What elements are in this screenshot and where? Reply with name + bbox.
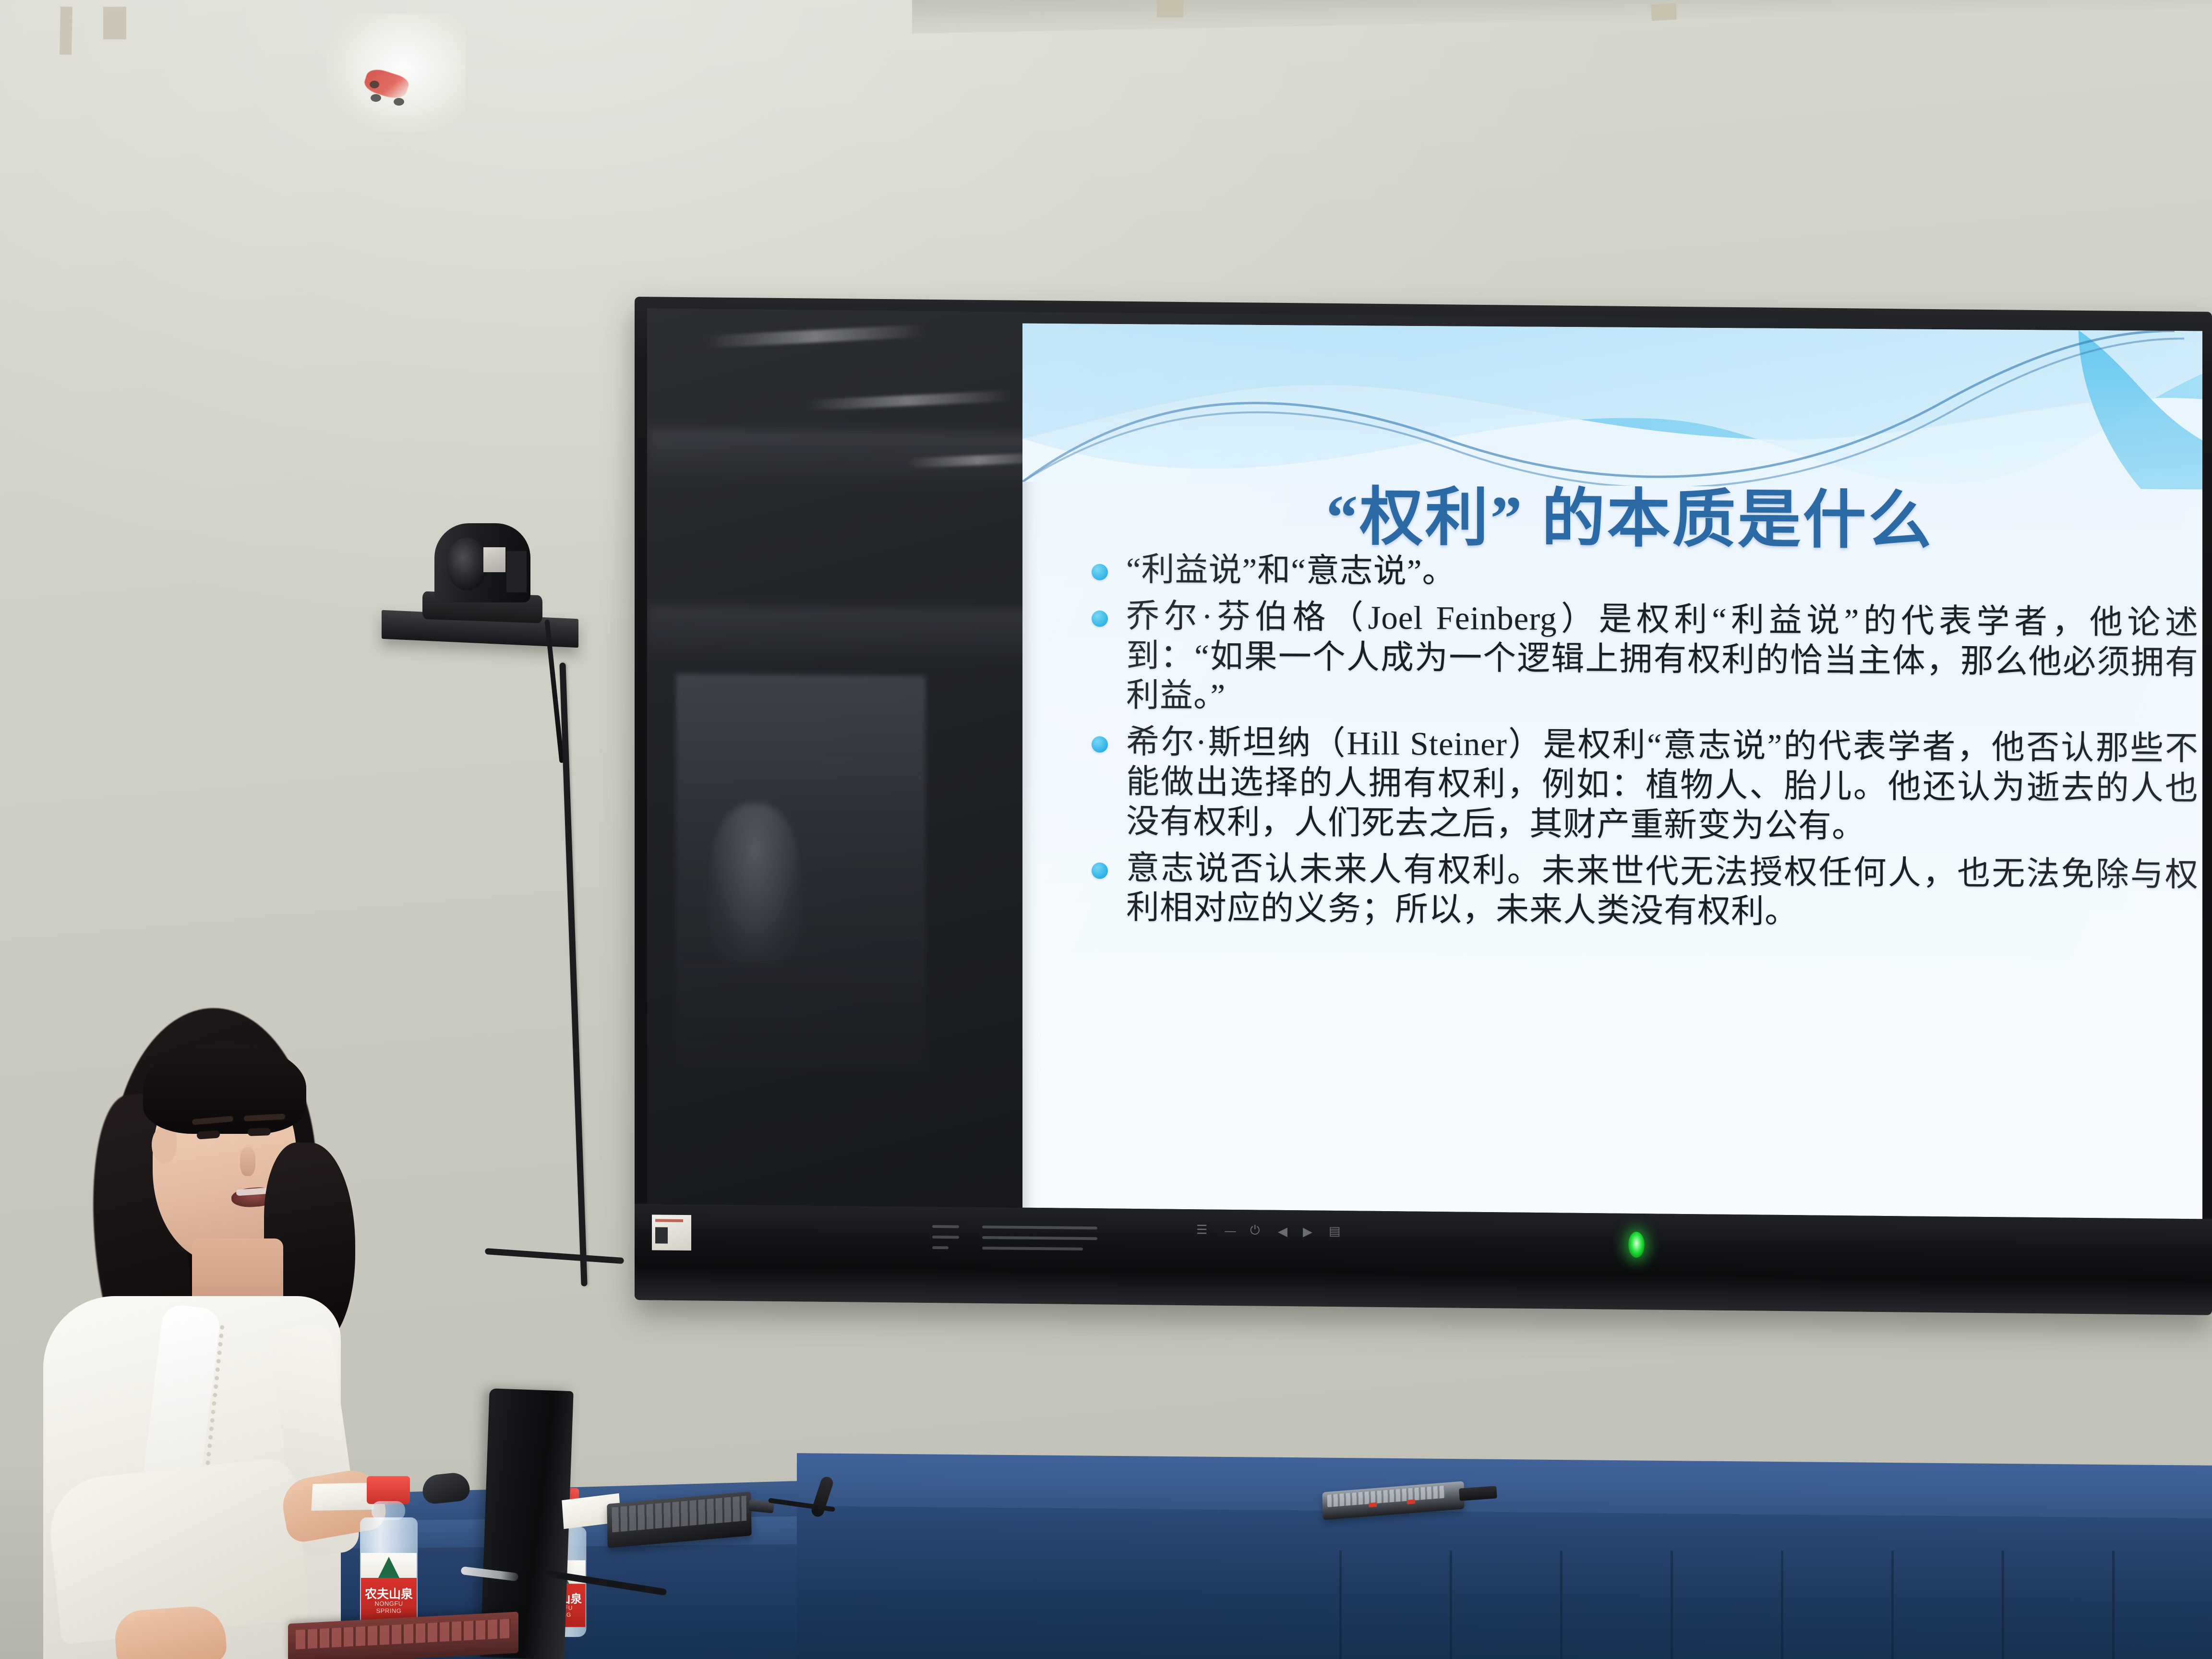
- display-vent-slots: [932, 1225, 1134, 1259]
- nongfu-logo-icon: [378, 1557, 399, 1578]
- skirt-pleat: [1781, 1551, 1783, 1659]
- skirt-pleat: [2002, 1551, 2004, 1659]
- usb-dongle: [1459, 1486, 1497, 1501]
- wall-plastic-scrap: [326, 13, 466, 133]
- slide-bullet-item: 希尔·斯坦纳（Hill Steiner）是权利“意志说”的代表学者，他否认那些不…: [1085, 722, 2199, 848]
- wall-tape-mark: [60, 7, 72, 55]
- eye: [248, 1128, 271, 1136]
- display-asset-sticker: [652, 1214, 691, 1250]
- slide-bullet-text: 希尔·斯坦纳（Hill Steiner）是权利“意志说”的代表学者，他否认那些不…: [1126, 723, 2199, 844]
- display-panel: “权利” 的本质是什么 “利益说”和“意志说”。 乔尔·芬伯格（Joel Fei…: [647, 308, 2202, 1219]
- bullet-dot-icon: [1092, 610, 1108, 626]
- skirt-pleat: [1560, 1551, 1563, 1659]
- wall-scrap-dot: [371, 94, 381, 102]
- wall-tape-mark: [103, 7, 126, 39]
- ear: [152, 1126, 177, 1164]
- slide-bullet-item: 乔尔·芬伯格（Joel Feinberg）是权利“利益说”的代表学者，他论述到：…: [1085, 596, 2199, 722]
- camera-asset-label: [483, 547, 505, 572]
- remote-red-button: [1407, 1499, 1415, 1504]
- slide-bullet-item: “利益说”和“意志说”。: [1085, 550, 2199, 597]
- slide-bullet-item: 意志说否认未来人有权利。未来世代无法授权任何人，也无法免除与权利相对应的义务；所…: [1085, 848, 2199, 935]
- lecture-room-photo: “权利” 的本质是什么 “利益说”和“意志说”。 乔尔·芬伯格（Joel Fei…: [0, 0, 2212, 1659]
- slide-bullet-text: “利益说”和“意志说”。: [1126, 551, 1456, 589]
- skirt-pleat: [1450, 1551, 1452, 1659]
- table-front-skirt: [797, 1506, 2212, 1659]
- nose: [240, 1147, 255, 1176]
- bottle-brand-cn: 农夫山泉: [363, 1585, 415, 1602]
- wall-scrap-dot: [394, 98, 404, 106]
- skirt-pleat: [1891, 1551, 1894, 1659]
- bullet-dot-icon: [1092, 564, 1108, 580]
- ceiling-light-reflection: [705, 325, 926, 349]
- presentation-slide[interactable]: “权利” 的本质是什么 “利益说”和“意志说”。 乔尔·芬伯格（Joel Fei…: [1022, 324, 2202, 1219]
- skirt-pleat: [2112, 1551, 2115, 1659]
- laptop-keys: [296, 1619, 511, 1649]
- camera-lens-icon: [446, 538, 488, 590]
- power-led-icon: [1628, 1232, 1645, 1258]
- slide-bullet-text: 乔尔·芬伯格（Joel Feinberg）是权利“利益说”的代表学者，他论述到：…: [1126, 598, 2199, 714]
- camera-side-plate: [506, 551, 527, 592]
- skirt-pleat: [1339, 1551, 1342, 1659]
- wall-tape-mark: [1157, 0, 1183, 17]
- bullet-dot-icon: [1092, 862, 1108, 878]
- ceiling-light-reflection: [805, 391, 1012, 411]
- audience-reflection: [709, 803, 801, 962]
- slide-title: “权利” 的本质是什么: [1022, 464, 2202, 563]
- eye: [197, 1130, 220, 1139]
- wall-tape-mark: [1651, 3, 1677, 21]
- water-bottle[interactable]: 农夫山泉 NONGFU SPRING: [355, 1476, 422, 1635]
- display-control-buttons[interactable]: ☰ — ⏻ ◀ ▶ ▤: [1196, 1224, 1355, 1265]
- display-bottom-bezel: ☰ — ⏻ ◀ ▶ ▤: [635, 1204, 2212, 1315]
- wall-mounted-display[interactable]: “权利” 的本质是什么 “利益说”和“意志说”。 乔尔·芬伯格（Joel Fei…: [635, 297, 2212, 1315]
- slide-bullet-list: “利益说”和“意志说”。 乔尔·芬伯格（Joel Feinberg）是权利“利益…: [1085, 550, 2199, 941]
- wall-scrap-dot: [370, 81, 379, 88]
- skirt-pleat: [1671, 1551, 1673, 1659]
- remote-red-button: [1369, 1503, 1377, 1507]
- bullet-dot-icon: [1092, 736, 1108, 753]
- bottle-cap: [367, 1476, 410, 1504]
- bottle-brand-en: NONGFU SPRING: [363, 1600, 415, 1614]
- slide-bullet-text: 意志说否认未来人有权利。未来世代无法授权任何人，也无法免除与权利相对应的义务；所…: [1126, 850, 2199, 930]
